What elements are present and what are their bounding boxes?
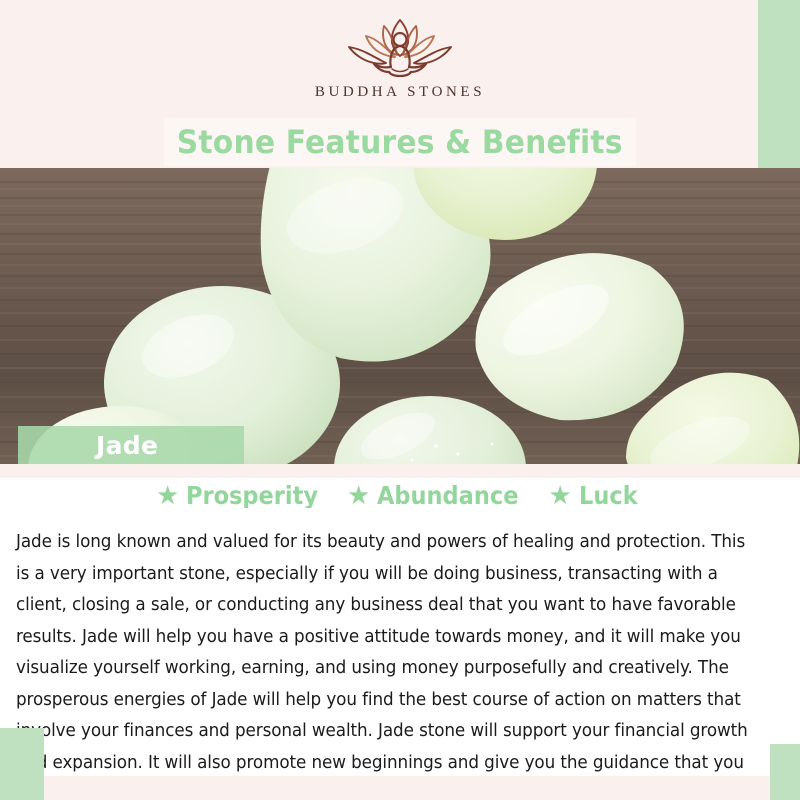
page-title: Stone Features & Benefits (177, 123, 623, 161)
title-banner: Stone Features & Benefits (164, 118, 636, 166)
keyword-label: Abundance (377, 481, 518, 510)
keyword-item-luck: ★ Luck (549, 481, 645, 510)
brand-header: BUDDHA STONES (0, 0, 800, 120)
description-panel: Jade is long known and valued for its be… (0, 508, 800, 776)
star-icon: ★ (549, 482, 572, 508)
keyword-item-prosperity: ★ Prosperity (156, 481, 333, 510)
brand-name: BUDDHA STONES (315, 84, 485, 101)
description-text: Jade is long known and valued for its be… (16, 527, 761, 800)
stone-name-band: Jade (18, 426, 244, 464)
footer-strip (0, 776, 800, 800)
star-icon: ★ (156, 482, 179, 508)
stone-name: Jade (96, 431, 158, 460)
lotus-meditation-icon (325, 14, 475, 82)
keyword-label: Prosperity (186, 481, 318, 510)
decorative-band-bottom-right (770, 744, 800, 800)
infographic-card: BUDDHA STONES Stone Features & Benefits (0, 0, 800, 800)
decorative-band-bottom-left (0, 728, 44, 800)
keyword-item-abundance: ★ Abundance (347, 481, 535, 510)
star-icon: ★ (347, 482, 370, 508)
keyword-row: ★ Prosperity ★ Abundance ★ Luck (0, 478, 800, 512)
stone-photo (0, 168, 800, 464)
keyword-label: Luck (579, 481, 638, 510)
brand-logo: BUDDHA STONES (0, 14, 800, 101)
